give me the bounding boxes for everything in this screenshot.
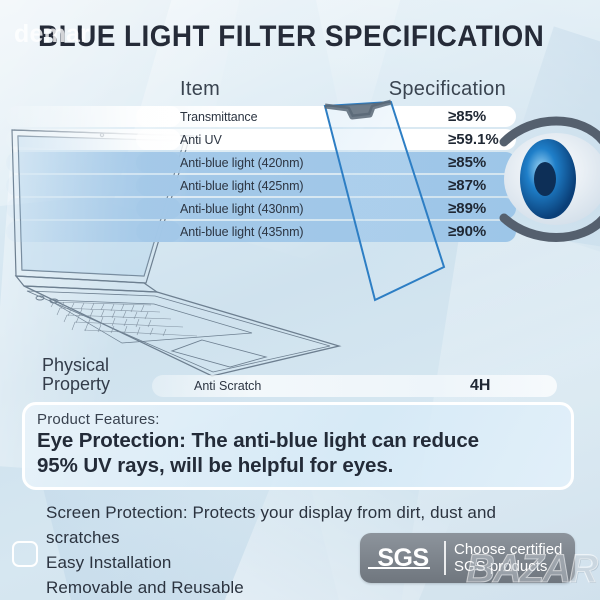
product-features-title: Product Features: (37, 411, 571, 428)
physical-property-label: Physical Property (42, 356, 137, 394)
sgs-divider (444, 541, 446, 575)
sgs-logo-mark: SGS (360, 544, 442, 573)
watermark-demar: demar (14, 20, 90, 49)
physical-property-label-line1: Physical (42, 356, 137, 375)
page-title: BLUE LIGHT FILTER SPECIFICATION (38, 20, 542, 54)
row-item-label: Anti-blue light (420nm) (180, 156, 303, 170)
physical-property-item: Anti Scratch (194, 379, 261, 393)
row-item-label: Anti-blue light (430nm) (180, 202, 303, 216)
screen-protector-film-icon (296, 92, 486, 392)
row-item-label: Anti UV (180, 133, 222, 147)
watermark-bazar: BAZAR (466, 547, 596, 592)
product-features-line1: Eye Protection: The anti-blue light can … (37, 429, 571, 453)
physical-property-label-line2: Property (42, 375, 137, 394)
eye-icon (496, 108, 600, 250)
product-features-line2: 95% UV rays, will be helpful for eyes. (37, 454, 571, 478)
product-features-box: Product Features: Eye Protection: The an… (22, 402, 574, 490)
specification-poster: BLUE LIGHT FILTER SPECIFICATION Item Spe… (0, 0, 600, 600)
row-item-label: Anti-blue light (435nm) (180, 225, 303, 239)
rounded-square-decoration-icon (12, 541, 38, 567)
row-item-label: Transmittance (180, 110, 257, 124)
row-item-label: Anti-blue light (425nm) (180, 179, 303, 193)
column-header-item: Item (180, 78, 220, 101)
